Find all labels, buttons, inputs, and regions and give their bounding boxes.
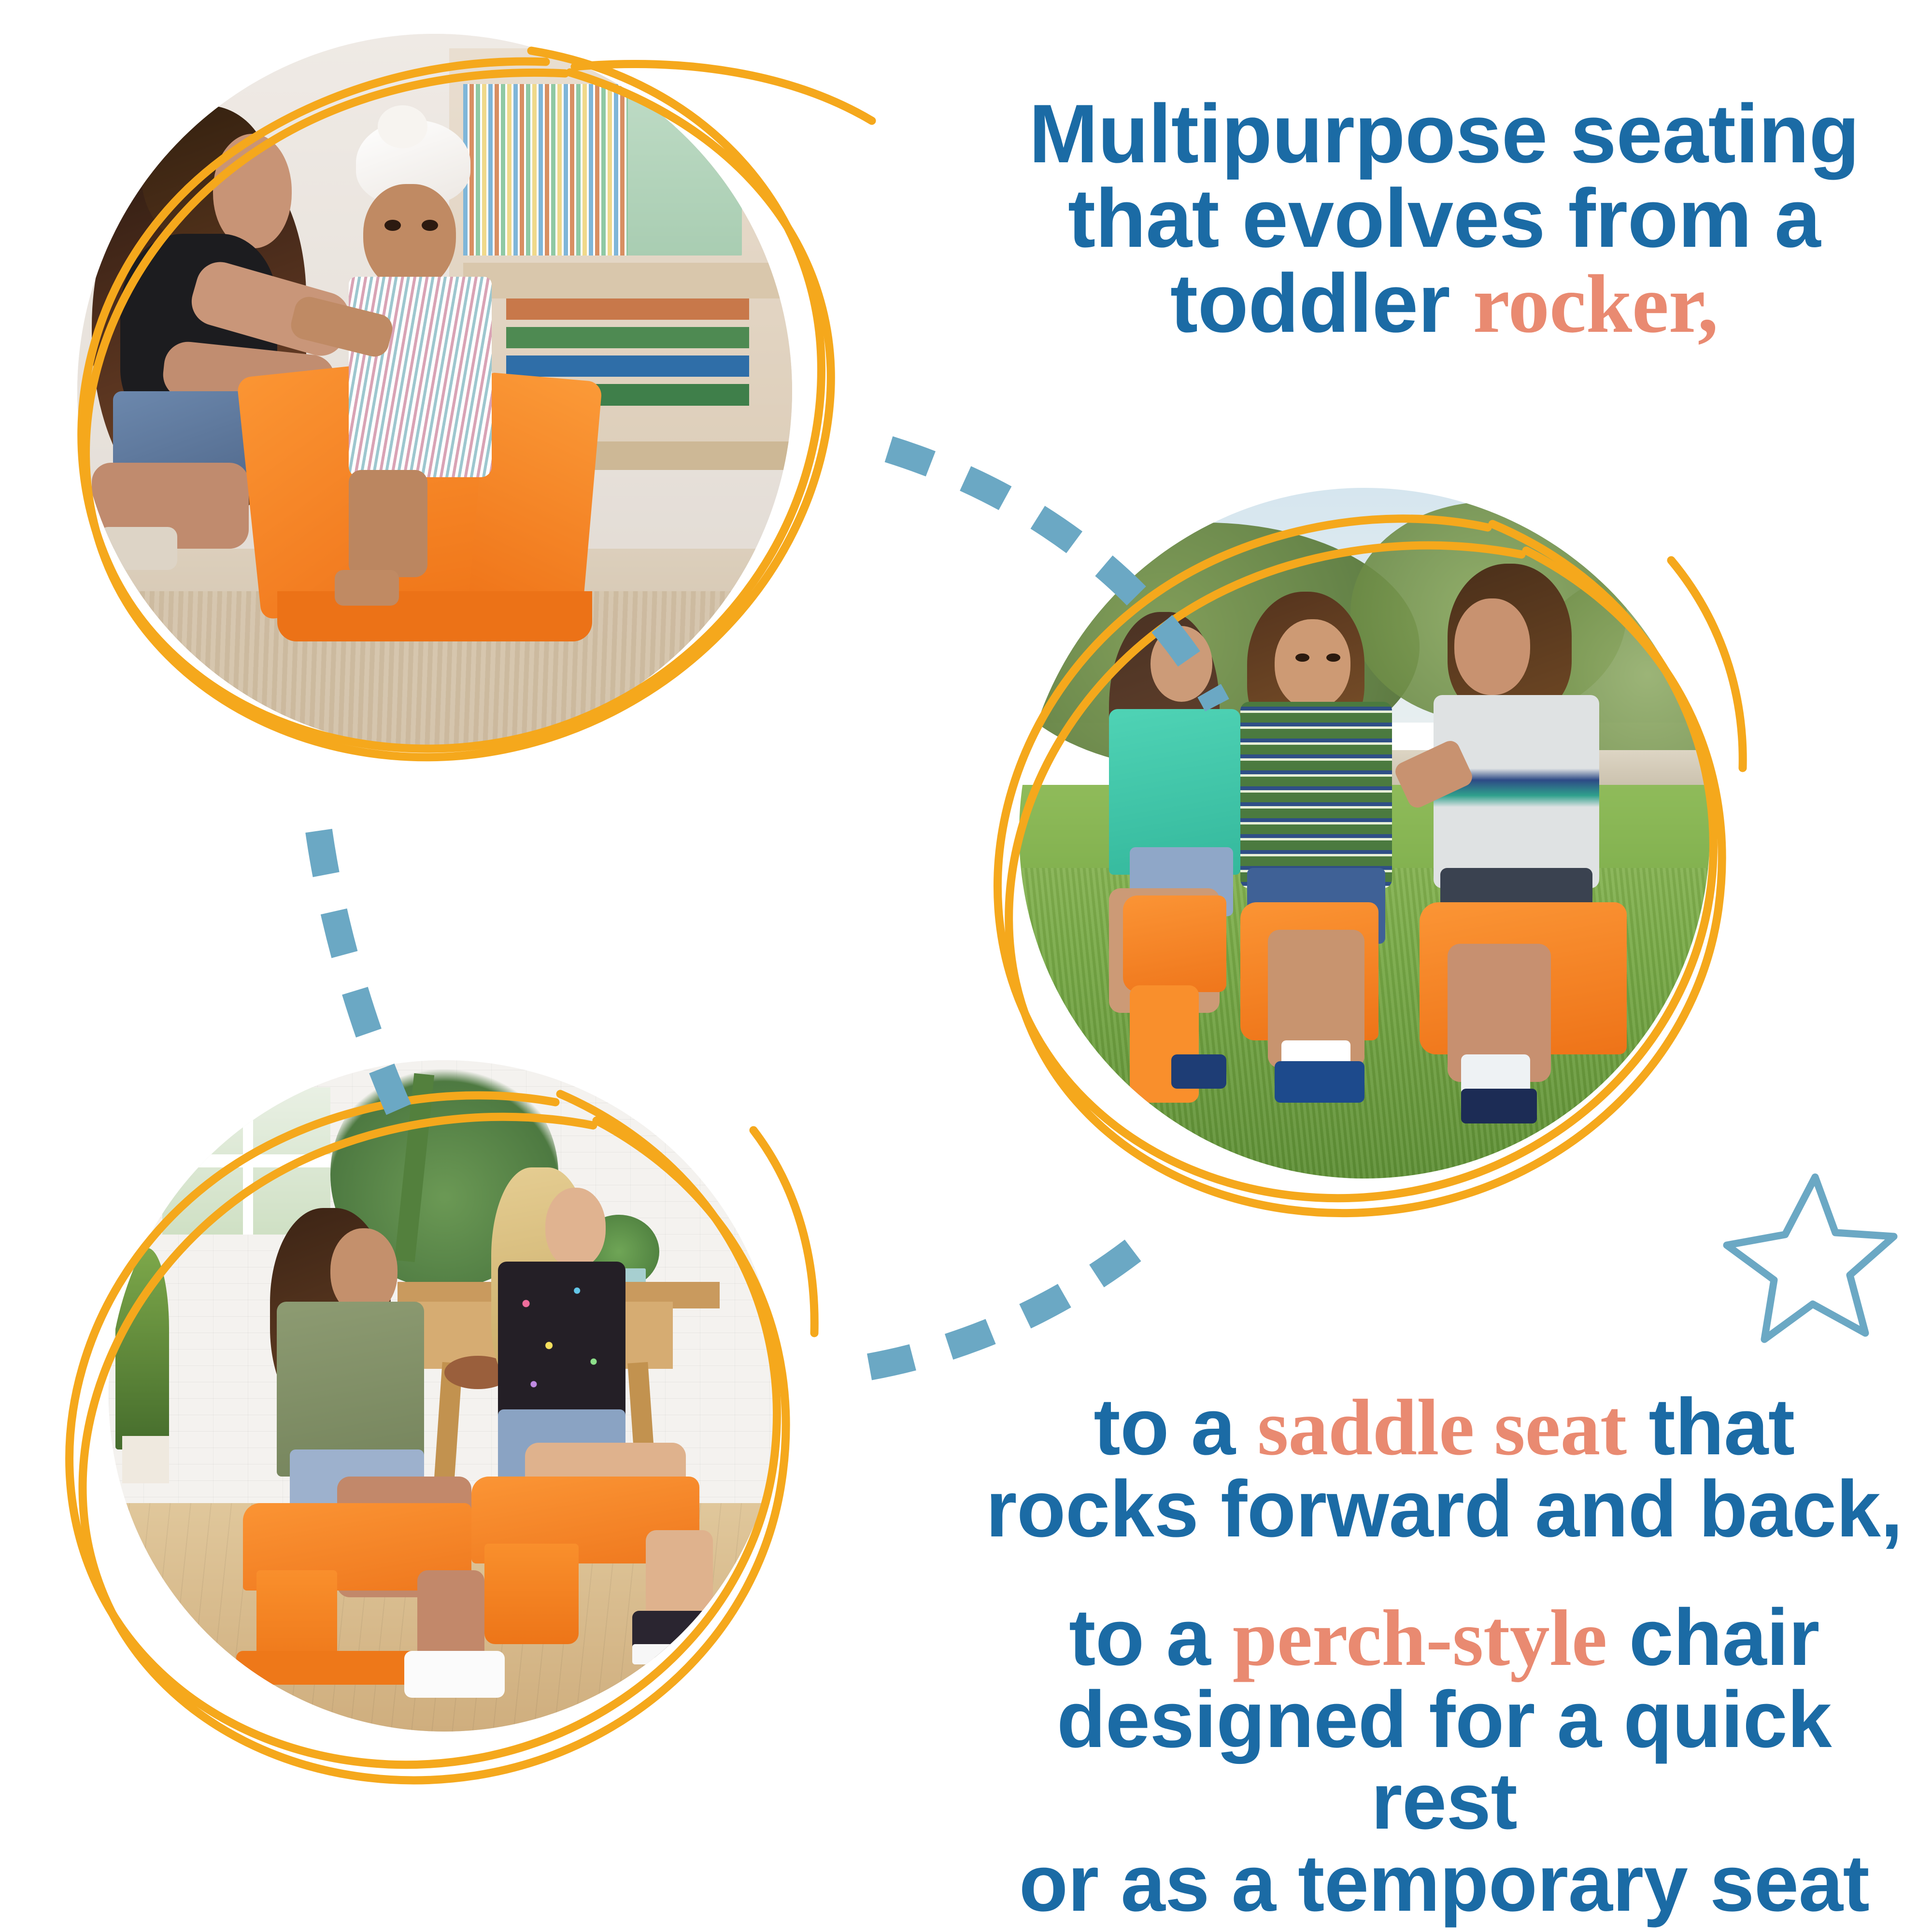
body-p2-line-1-coral: perch-style: [1233, 1593, 1607, 1682]
body-p1-line-1-blue-a: to a: [1094, 1382, 1257, 1472]
star-icon: [1727, 1177, 1894, 1339]
headline-line-3-coral: rocker,: [1473, 258, 1719, 350]
headline-line-3-blue: toddler: [1170, 257, 1473, 350]
dashed-connector-perch-to-saddle: [869, 1229, 1159, 1367]
body-p2-line-3: or as a temporary seat: [985, 1843, 1903, 1924]
infographic-canvas: Multipurpose seating that evolves from a…: [0, 0, 1932, 1932]
body-p1-line-1-coral: saddle seat: [1257, 1383, 1627, 1472]
body-text: to a saddle seat that rocks forward and …: [985, 1386, 1903, 1924]
body-p2-line-2: designed for a quick rest: [985, 1679, 1903, 1843]
body-paragraph-gap: [985, 1550, 1903, 1597]
body-p2-line-1-blue-b: chair: [1607, 1593, 1819, 1682]
headline-text: Multipurpose seating that evolves from a…: [995, 92, 1893, 347]
headline-line-2: that evolves from a: [995, 176, 1893, 261]
body-p1-line-2: rocks forward and back,: [985, 1468, 1903, 1550]
body-p1-line-1-blue-b: that: [1627, 1382, 1795, 1472]
body-p2-line-1: to a perch-style chair: [985, 1597, 1903, 1679]
saddle-seat-outdoor-photo: [1019, 488, 1710, 1179]
headline-line-1: Multipurpose seating: [995, 92, 1893, 176]
headline-line-3: toddler rocker,: [995, 261, 1893, 347]
body-p1-line-1: to a saddle seat that: [985, 1386, 1903, 1468]
body-p2-line-1-blue-a: to a: [1069, 1593, 1233, 1682]
toddler-rocker-photo: [77, 34, 792, 749]
perch-chair-indoor-photo: [109, 1060, 780, 1732]
